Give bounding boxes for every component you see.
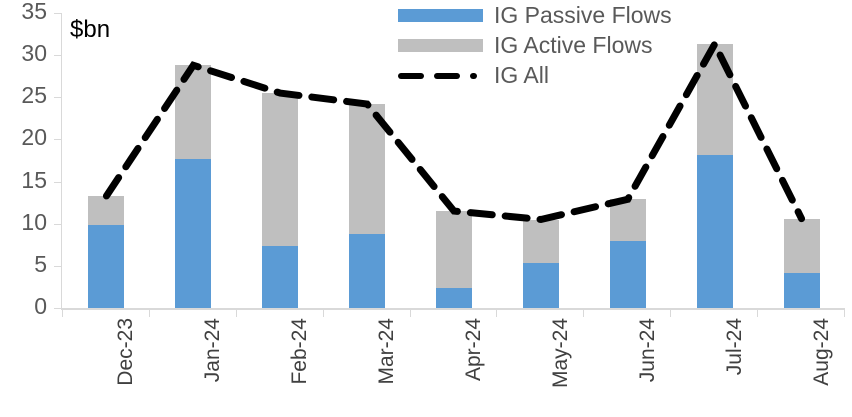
y-tick-label: 20 <box>3 126 47 149</box>
bar-column[interactable] <box>175 13 211 308</box>
y-tick-label: 30 <box>3 42 47 65</box>
y-tick-mark <box>54 308 61 309</box>
x-tick-mark <box>844 310 845 317</box>
x-tick-label: Jan-24 <box>202 318 223 382</box>
y-tick-mark <box>54 55 61 56</box>
bar-segment-active[interactable] <box>349 104 385 234</box>
x-tick-label: Feb-24 <box>289 318 310 385</box>
legend-swatch-active-icon <box>398 39 483 52</box>
y-tick-mark <box>54 224 61 225</box>
legend-item-ig-passive-flows[interactable]: IG Passive Flows <box>398 2 672 29</box>
y-tick-mark <box>54 266 61 267</box>
x-tick-mark <box>496 310 497 317</box>
x-tick-label: Aug-24 <box>811 318 832 386</box>
y-tick-mark <box>54 139 61 140</box>
bar-column[interactable] <box>349 13 385 308</box>
y-tick-mark <box>54 13 61 14</box>
x-tick-mark <box>757 310 758 317</box>
y-tick-mark <box>54 182 61 183</box>
bar-segment-active[interactable] <box>436 211 472 288</box>
bar-column[interactable] <box>262 13 298 308</box>
x-tick-mark <box>62 310 63 317</box>
bar-column[interactable] <box>697 13 733 308</box>
x-tick-label: Mar-24 <box>376 318 397 385</box>
bar-segment-active[interactable] <box>262 93 298 246</box>
bar-segment-passive[interactable] <box>88 225 124 308</box>
bar-segment-passive[interactable] <box>349 234 385 308</box>
bar-segment-passive[interactable] <box>610 241 646 308</box>
bar-segment-passive[interactable] <box>697 155 733 308</box>
y-tick-label: 10 <box>3 211 47 234</box>
x-tick-label: May-24 <box>550 318 571 388</box>
bar-segment-passive[interactable] <box>523 263 559 308</box>
x-tick-mark <box>323 310 324 317</box>
legend-label-passive: IG Passive Flows <box>494 4 672 27</box>
legend-swatch-passive-icon <box>398 9 483 22</box>
bar-segment-active[interactable] <box>88 196 124 226</box>
bar-segment-passive[interactable] <box>784 273 820 308</box>
y-tick-mark <box>54 97 61 98</box>
bar-segment-active[interactable] <box>784 219 820 273</box>
bar-segment-active[interactable] <box>523 220 559 264</box>
x-tick-mark <box>670 310 671 317</box>
chart-container: 05101520253035 $bn Dec-23Jan-24Feb-24Mar… <box>0 0 852 417</box>
y-tick-label: 25 <box>3 84 47 107</box>
legend-label-ig-all: IG All <box>494 64 549 87</box>
bar-column[interactable] <box>88 13 124 308</box>
x-axis-line <box>61 308 845 310</box>
chart-legend: IG Passive Flows IG Active Flows IG All <box>398 2 672 89</box>
x-tick-label: Dec-23 <box>115 318 136 386</box>
legend-swatch-dashed-line-icon <box>398 69 483 82</box>
bar-segment-passive[interactable] <box>262 246 298 308</box>
x-tick-label: Jun-24 <box>637 318 658 382</box>
bar-column[interactable] <box>784 13 820 308</box>
bar-segment-passive[interactable] <box>175 159 211 308</box>
legend-item-ig-all[interactable]: IG All <box>398 62 672 89</box>
x-tick-mark <box>149 310 150 317</box>
bar-segment-active[interactable] <box>697 44 733 154</box>
x-tick-mark <box>410 310 411 317</box>
y-tick-label: 0 <box>3 295 47 318</box>
x-tick-mark <box>583 310 584 317</box>
bar-segment-active[interactable] <box>175 65 211 159</box>
y-tick-label: 35 <box>3 0 47 23</box>
x-tick-label: Apr-24 <box>463 318 484 381</box>
bar-segment-passive[interactable] <box>436 288 472 308</box>
bar-segment-active[interactable] <box>610 199 646 241</box>
y-tick-label: 15 <box>3 169 47 192</box>
y-tick-label: 5 <box>3 253 47 276</box>
x-tick-label: Jul-24 <box>724 318 745 375</box>
legend-item-ig-active-flows[interactable]: IG Active Flows <box>398 32 672 59</box>
legend-label-active: IG Active Flows <box>494 34 652 57</box>
x-tick-mark <box>236 310 237 317</box>
